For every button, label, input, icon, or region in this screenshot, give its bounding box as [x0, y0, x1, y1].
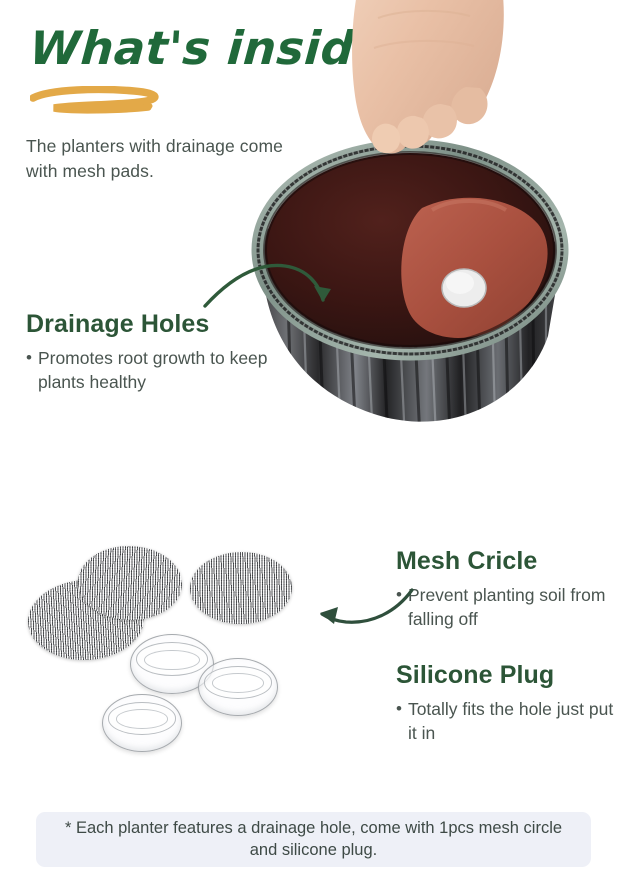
feature-mesh-circle: Mesh Cricle • Prevent planting soil from… — [396, 548, 616, 631]
feature-heading-mesh: Mesh Cricle — [396, 548, 616, 576]
feature-bullet-plug: • Totally fits the hole just put it in — [396, 697, 621, 745]
bullet-marker-icon: • — [26, 346, 32, 369]
hand-holding-pot — [330, 0, 520, 186]
infographic-page: What's inside? The planters with drainag… — [0, 0, 627, 879]
footer-note-box: * Each planter features a drainage hole,… — [36, 812, 591, 867]
feature-bullet-mesh: • Prevent planting soil from falling off — [396, 583, 616, 631]
bullet-marker-icon: • — [396, 697, 402, 720]
feature-bullet-drainage: • Promotes root growth to keep plants he… — [26, 346, 276, 394]
title-underline-swoosh — [30, 86, 190, 116]
accessories-photo — [18, 528, 318, 776]
arrow-to-drainage-hole-icon — [203, 256, 343, 326]
silicone-plug-item — [102, 694, 182, 752]
feature-bullet-text-plug: Totally fits the hole just put it in — [408, 697, 621, 745]
arrow-to-mesh-circles-icon — [312, 582, 416, 638]
feature-silicone-plug: Silicone Plug • Totally fits the hole ju… — [396, 662, 621, 745]
footer-note-text: * Each planter features a drainage hole,… — [52, 818, 575, 862]
feature-heading-plug: Silicone Plug — [396, 662, 621, 690]
silicone-plug-item — [198, 658, 278, 716]
feature-bullet-text-drainage: Promotes root growth to keep plants heal… — [38, 346, 276, 394]
mesh-circle-item — [189, 551, 292, 625]
feature-bullet-text-mesh: Prevent planting soil from falling off — [408, 583, 616, 631]
planter-photo — [238, 0, 627, 496]
